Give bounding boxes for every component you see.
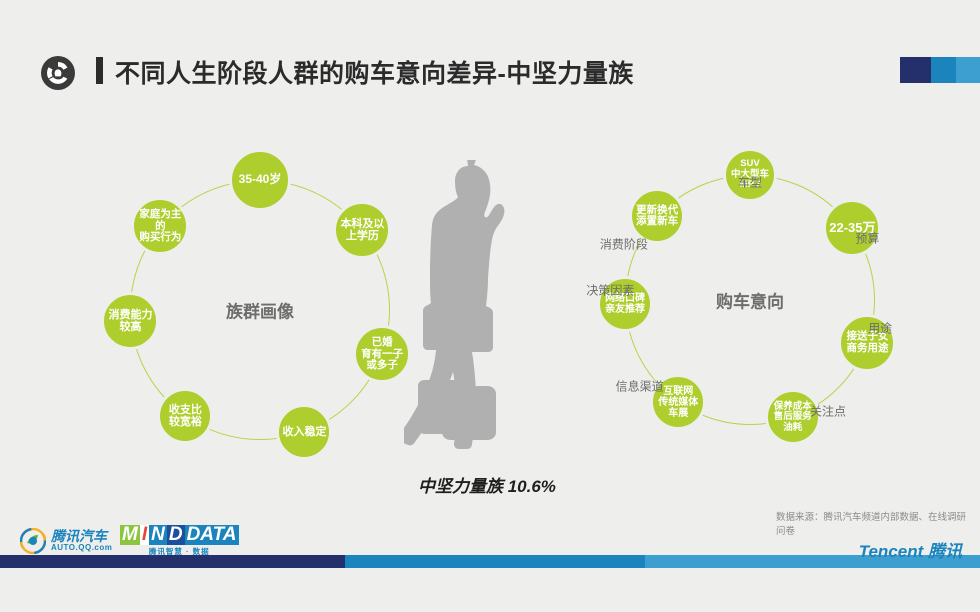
corner-decoration bbox=[900, 57, 980, 83]
tencent-auto-logo: 腾讯汽车 AUTO.QQ.com bbox=[20, 528, 112, 554]
ring-node-label: 消费能力较高 bbox=[108, 309, 152, 334]
persona-profile-ring: 族群画像 35-40岁本科及以上学历已婚育有一子或多子收入稳定收支比较宽裕消费能… bbox=[130, 180, 390, 440]
title-accent-bar bbox=[96, 57, 103, 84]
mind-logo-letter: M bbox=[120, 525, 140, 545]
ring-node-age[interactable]: 35-40岁 bbox=[229, 149, 291, 211]
auto-logo-en: AUTO.QQ.com bbox=[51, 544, 112, 552]
ring-outer-label-stage: 消费阶段 bbox=[600, 235, 648, 252]
auto-qq-mark-icon bbox=[20, 528, 46, 554]
mind-data-logo: MINDDATA 腾讯智慧 · 数据 bbox=[120, 525, 239, 557]
segment-share-caption: 中坚力量族 10.6% bbox=[418, 472, 556, 497]
left-ring-center-label: 族群画像 bbox=[226, 298, 294, 323]
right-ring-center-label: 购车意向 bbox=[716, 288, 784, 313]
ring-node-label: 已婚育有一子或多子 bbox=[361, 337, 403, 372]
ring-node-label: 收入稳定 bbox=[282, 426, 326, 438]
ring-node-education[interactable]: 本科及以上学历 bbox=[333, 201, 391, 259]
ring-outer-label-decision: 决策因素 bbox=[586, 282, 634, 299]
ring-outer-label-purpose: 用途 bbox=[868, 319, 892, 336]
tencent-auto-circle-logo bbox=[40, 55, 76, 91]
corner-block-1 bbox=[900, 57, 931, 83]
slide-root: 不同人生阶段人群的购车意向差异-中坚力量族 族群画像 35-40岁本科及以上学历… bbox=[0, 0, 980, 612]
ring-node-spending[interactable]: 消费能力较高 bbox=[101, 292, 159, 350]
ring-outer-label-budget: 预算 bbox=[855, 229, 879, 246]
corner-block-2 bbox=[931, 57, 956, 83]
ring-node-family[interactable]: 已婚育有一子或多子 bbox=[353, 325, 411, 383]
auto-logo-cn: 腾讯汽车 bbox=[51, 529, 112, 544]
mind-logo-letter: N bbox=[149, 525, 167, 545]
data-source-note: 数据来源：腾讯汽车频道内部数据、在线调研问卷 bbox=[776, 511, 972, 539]
ring-node-behavior[interactable]: 家庭为主的购买行为 bbox=[131, 197, 189, 255]
ring-node-label: 本科及以上学历 bbox=[340, 218, 384, 243]
tencent-logo: Tencent 腾讯 bbox=[859, 537, 962, 562]
ring-node-label: 互联网传统媒体车展 bbox=[658, 386, 698, 420]
ring-node-label: 保养成本售后服务油耗 bbox=[774, 402, 812, 434]
ring-node-label: 收支比较宽裕 bbox=[169, 404, 202, 429]
mind-logo-letter: I bbox=[140, 525, 149, 545]
footer-bar-segment-2 bbox=[345, 555, 645, 568]
walking-businessman-silhouette bbox=[404, 160, 534, 470]
mind-logo-letter: DATA bbox=[185, 525, 239, 545]
ring-outer-label-concern: 关注点 bbox=[810, 403, 846, 420]
ring-node-income[interactable]: 收入稳定 bbox=[276, 404, 332, 460]
ring-outer-label-channel: 信息渠道 bbox=[616, 378, 664, 395]
ring-node-ratio[interactable]: 收支比较宽裕 bbox=[157, 388, 213, 444]
page-title: 不同人生阶段人群的购车意向差异-中坚力量族 bbox=[115, 54, 634, 90]
ring-node-label: 35-40岁 bbox=[239, 173, 282, 186]
ring-node-label: 更新换代添置新车 bbox=[636, 205, 678, 229]
ring-node-label: 家庭为主的购买行为 bbox=[134, 209, 186, 244]
ring-outer-label-car-type: 车型 bbox=[738, 174, 762, 191]
corner-block-3 bbox=[956, 57, 980, 83]
mind-data-subtitle: 腾讯智慧 · 数据 bbox=[120, 546, 239, 557]
mind-logo-letter: D bbox=[167, 525, 185, 545]
purchase-intent-ring: 购车意向 SUV中大型车MPV车型22-35万预算接送子女商务用途用途保养成本售… bbox=[625, 175, 875, 425]
